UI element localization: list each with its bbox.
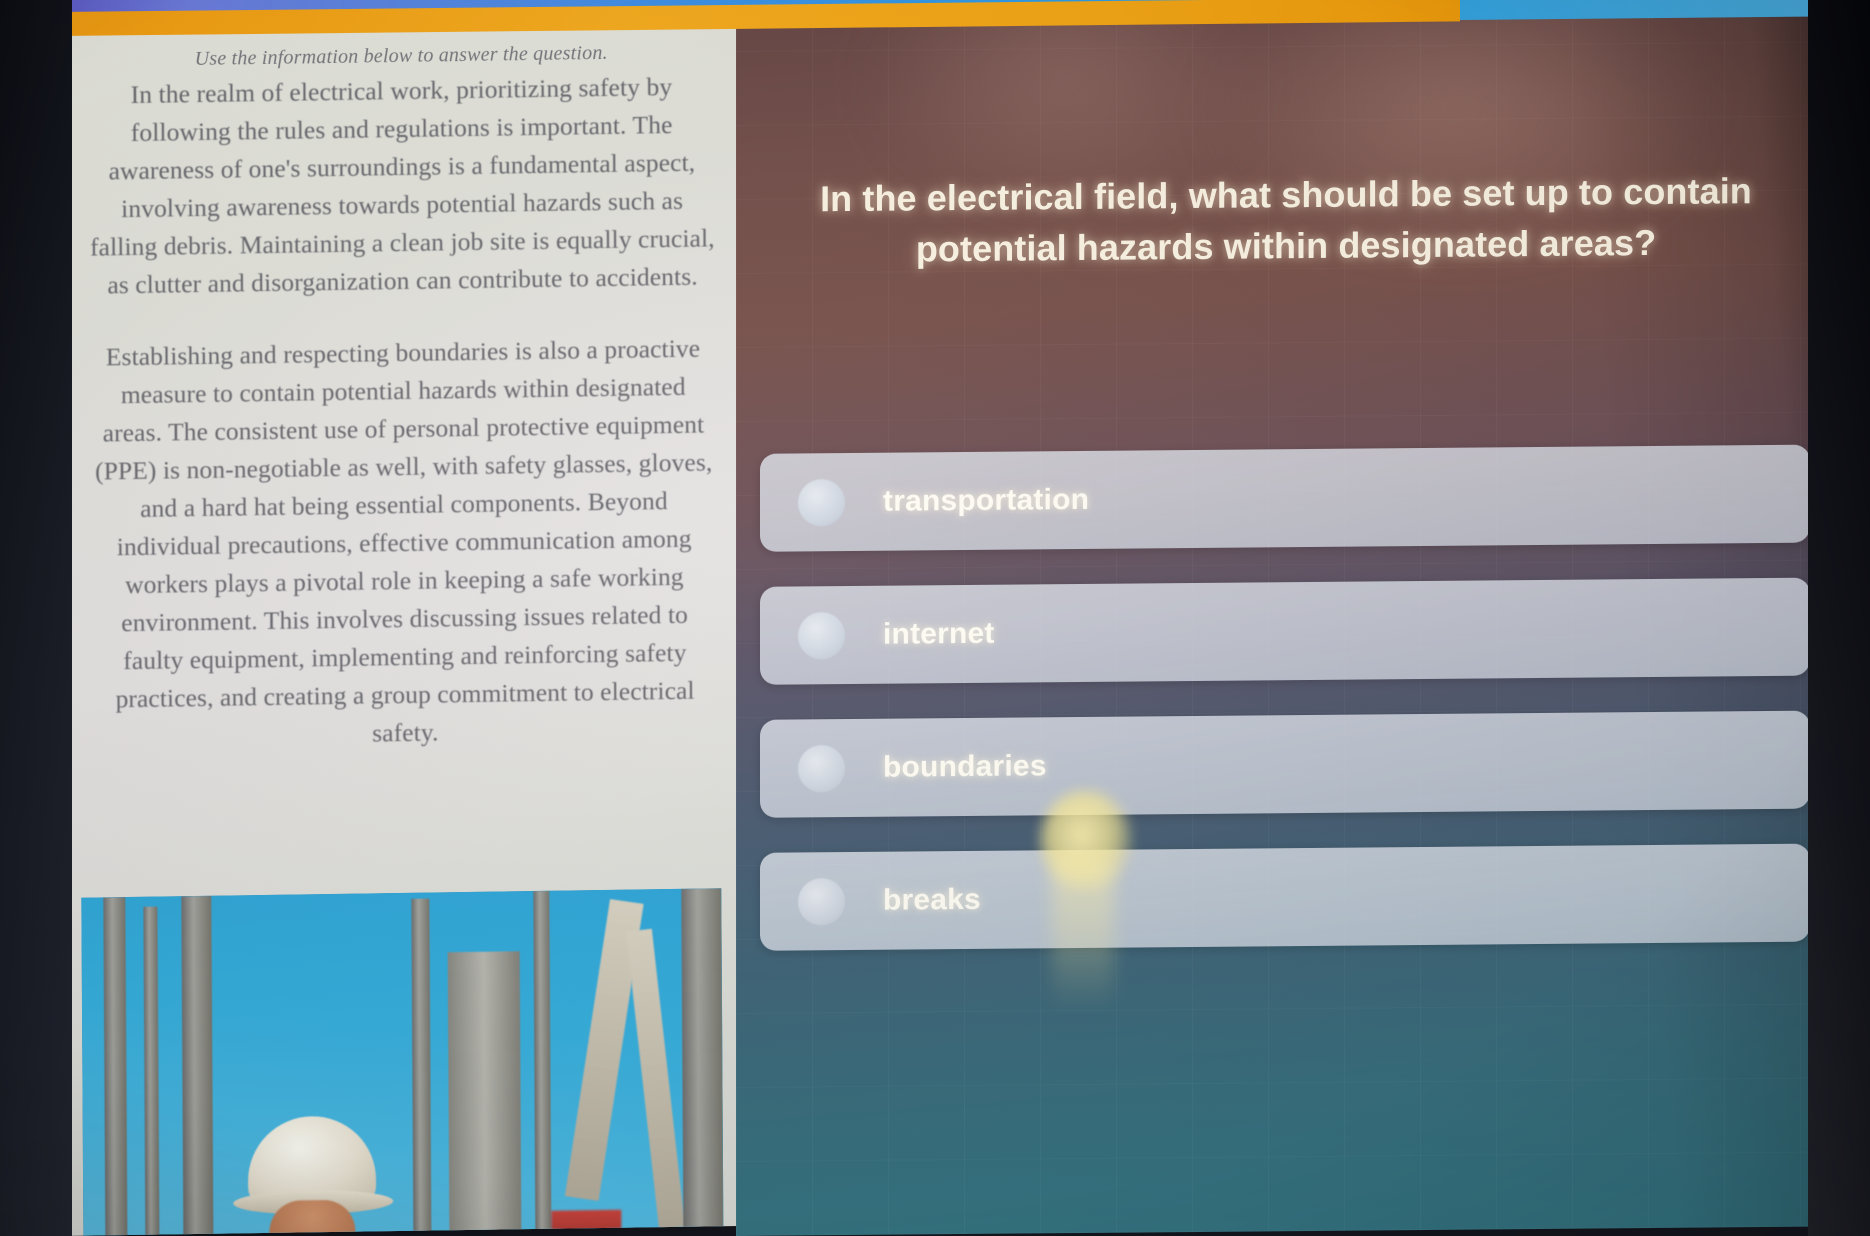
answer-option-breaks[interactable]: breaks — [760, 844, 1810, 951]
answer-option-transportation[interactable]: transportation — [760, 445, 1810, 552]
radio-button-icon[interactable] — [798, 878, 845, 925]
photo-utility-pole — [103, 897, 127, 1236]
passage-paragraph-1: In the realm of electrical work, priorit… — [86, 67, 717, 304]
photo-utility-pole — [411, 899, 431, 1236]
passage-paragraph-2: Establishing and respecting boundaries i… — [88, 329, 721, 756]
photo-utility-pole — [533, 891, 551, 1236]
answer-option-boundaries[interactable]: boundaries — [760, 711, 1810, 818]
answer-option-internet[interactable]: internet — [760, 578, 1810, 685]
radio-button-icon[interactable] — [798, 479, 845, 526]
quiz-panel: In the electrical field, what should be … — [736, 14, 1834, 1236]
photo-utility-pole — [181, 896, 213, 1236]
radio-button-icon[interactable] — [798, 612, 845, 659]
answer-option-label: transportation — [883, 483, 1089, 519]
passage-panel: Use the information below to answer the … — [62, 18, 747, 1236]
photo-transformer — [448, 951, 522, 1236]
photo-worker-face — [269, 1200, 355, 1236]
photographed-screen: Use the information below to answer the … — [0, 0, 1870, 1236]
answer-option-label: boundaries — [883, 749, 1047, 784]
passage-illustration-image — [81, 888, 723, 1236]
photo-utility-pole — [143, 907, 159, 1236]
answer-options-list: transportation internet boundaries break… — [760, 445, 1810, 951]
answer-option-label: breaks — [883, 883, 981, 918]
monitor-bezel-right — [1808, 0, 1870, 1236]
radio-button-icon[interactable] — [798, 745, 845, 792]
monitor-bezel-left — [0, 0, 72, 1236]
answer-option-label: internet — [883, 617, 995, 652]
photo-warning-sign — [551, 1210, 621, 1236]
photo-utility-pole — [681, 888, 723, 1236]
question-text: In the electrical field, what should be … — [796, 165, 1776, 276]
